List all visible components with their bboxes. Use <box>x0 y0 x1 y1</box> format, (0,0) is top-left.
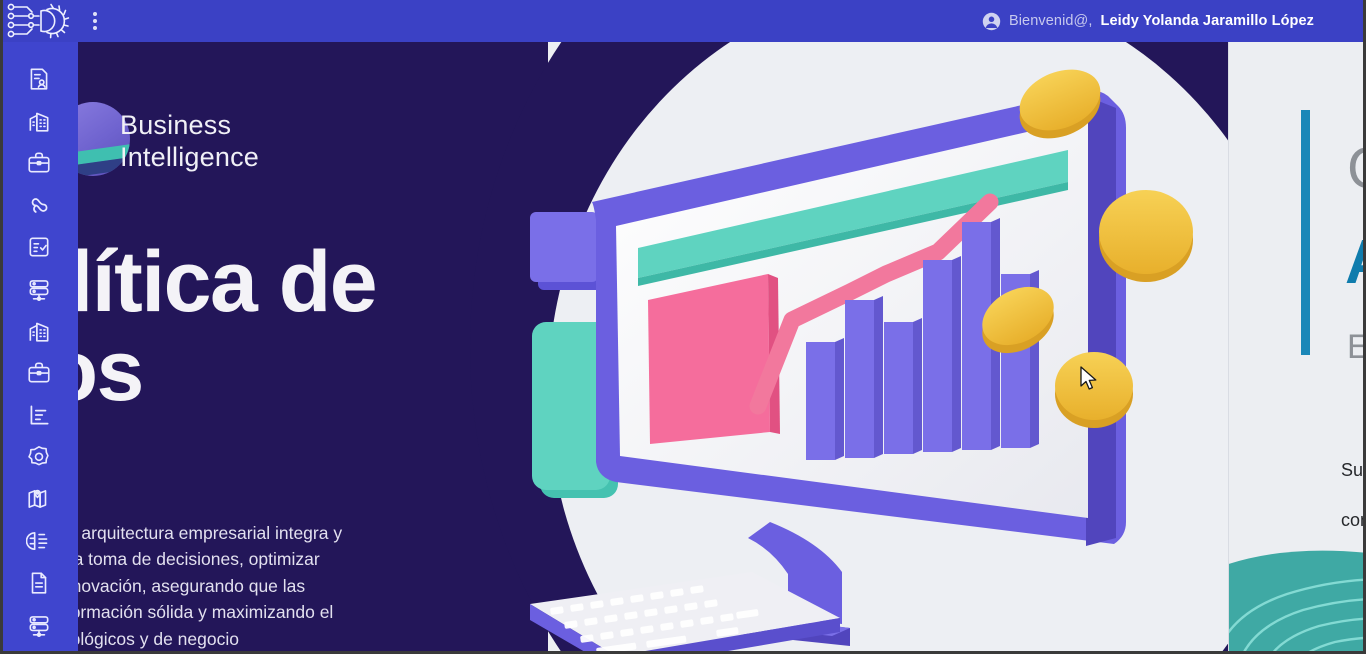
database-server-icon <box>26 276 52 302</box>
next-heading-em: EM <box>1347 330 1366 364</box>
database-server-icon <box>26 612 52 638</box>
sidebar-item-documentos[interactable] <box>0 562 78 604</box>
next-heading-g: G <box>1347 140 1366 198</box>
accent-bar <box>1301 110 1310 355</box>
flow-diagram-icon <box>26 528 52 554</box>
sidebar-item-procesos[interactable] <box>0 520 78 562</box>
paragraph-line-1: a de datos en la arquitectura empresaria… <box>78 520 552 546</box>
sidebar-item-indicadores[interactable] <box>0 394 78 436</box>
sidebar-item-mapa[interactable] <box>0 478 78 520</box>
next-slide-preview[interactable]: G A EM Su o com <box>1228 42 1366 654</box>
mouse-pointer-icon <box>1080 366 1098 392</box>
user-name-label: Leidy Yolanda Jaramillo López <box>1101 13 1314 29</box>
sidebar-item-empresa[interactable] <box>0 310 78 352</box>
top-header-bar: Bienvenid@, Leidy Yolanda Jaramillo Lópe… <box>0 0 1366 42</box>
brand-name: Business Intelligence <box>120 110 259 173</box>
report-document-icon <box>26 66 52 92</box>
paragraph-line-2: s para mejorar la toma de decisiones, op… <box>78 546 552 572</box>
sidebar-item-proyectos[interactable] <box>0 352 78 394</box>
sidebar-item-red[interactable] <box>0 184 78 226</box>
checklist-icon <box>26 234 52 260</box>
sidebar-item-datos[interactable] <box>0 268 78 310</box>
sidebar-item-portafolio[interactable] <box>0 142 78 184</box>
sidebar-item-organizacion[interactable] <box>0 100 78 142</box>
teal-arcs-decoration <box>1228 520 1366 654</box>
paragraph-line-3: y fomentar la innovación, asegurando que… <box>78 573 552 599</box>
map-pin-icon <box>26 486 52 512</box>
hero-description: a de datos en la arquitectura empresaria… <box>78 520 552 652</box>
sidebar-item-tareas[interactable] <box>0 226 78 268</box>
arcs-svg <box>1228 520 1366 654</box>
paragraph-line-4: se basen en información sólida y maximiz… <box>78 599 552 625</box>
welcome-label: Bienvenid@, <box>1009 13 1093 29</box>
gear-hexagon-icon <box>26 444 52 470</box>
overflow-menu-button[interactable] <box>78 0 112 42</box>
illustration-svg <box>520 52 1220 654</box>
sidebar-item-repositorio[interactable] <box>0 604 78 646</box>
sidebar-item-reportes[interactable] <box>0 58 78 100</box>
brand-line-1: Business <box>120 110 259 142</box>
slide-stage: Business Intelligence nalítica de atos a… <box>78 42 1366 654</box>
next-body-line-1: Su o <box>1341 460 1366 481</box>
briefcase-icon <box>26 150 52 176</box>
building-icon <box>26 318 52 344</box>
user-avatar-icon <box>982 12 1001 31</box>
sidebar-item-configuracion[interactable] <box>0 436 78 478</box>
bar-chart-icon <box>26 402 52 428</box>
network-nodes-icon <box>26 192 52 218</box>
user-account-area[interactable]: Bienvenid@, Leidy Yolanda Jaramillo Lópe… <box>982 12 1366 31</box>
brand-line-2: Intelligence <box>120 142 259 174</box>
gear-circuit-icon <box>5 1 73 41</box>
kebab-dot-2 <box>93 19 97 23</box>
paragraph-line-5: s recursos tecnológicos y de negocio <box>78 626 552 652</box>
data-analytics-3d-illustration <box>520 52 1220 654</box>
left-navigation-sidebar[interactable] <box>0 42 78 654</box>
screen-pink-panel <box>648 274 770 444</box>
app-logo[interactable] <box>0 0 78 42</box>
next-heading-a: A <box>1345 232 1366 294</box>
building-icon <box>26 108 52 134</box>
kebab-dot-1 <box>93 12 97 16</box>
file-document-icon <box>26 570 52 596</box>
hero-slide: Business Intelligence nalítica de atos a… <box>78 42 1228 654</box>
application-window: Bienvenid@, Leidy Yolanda Jaramillo Lópe… <box>0 0 1366 654</box>
kebab-dot-3 <box>93 26 97 30</box>
briefcase-icon <box>26 360 52 386</box>
